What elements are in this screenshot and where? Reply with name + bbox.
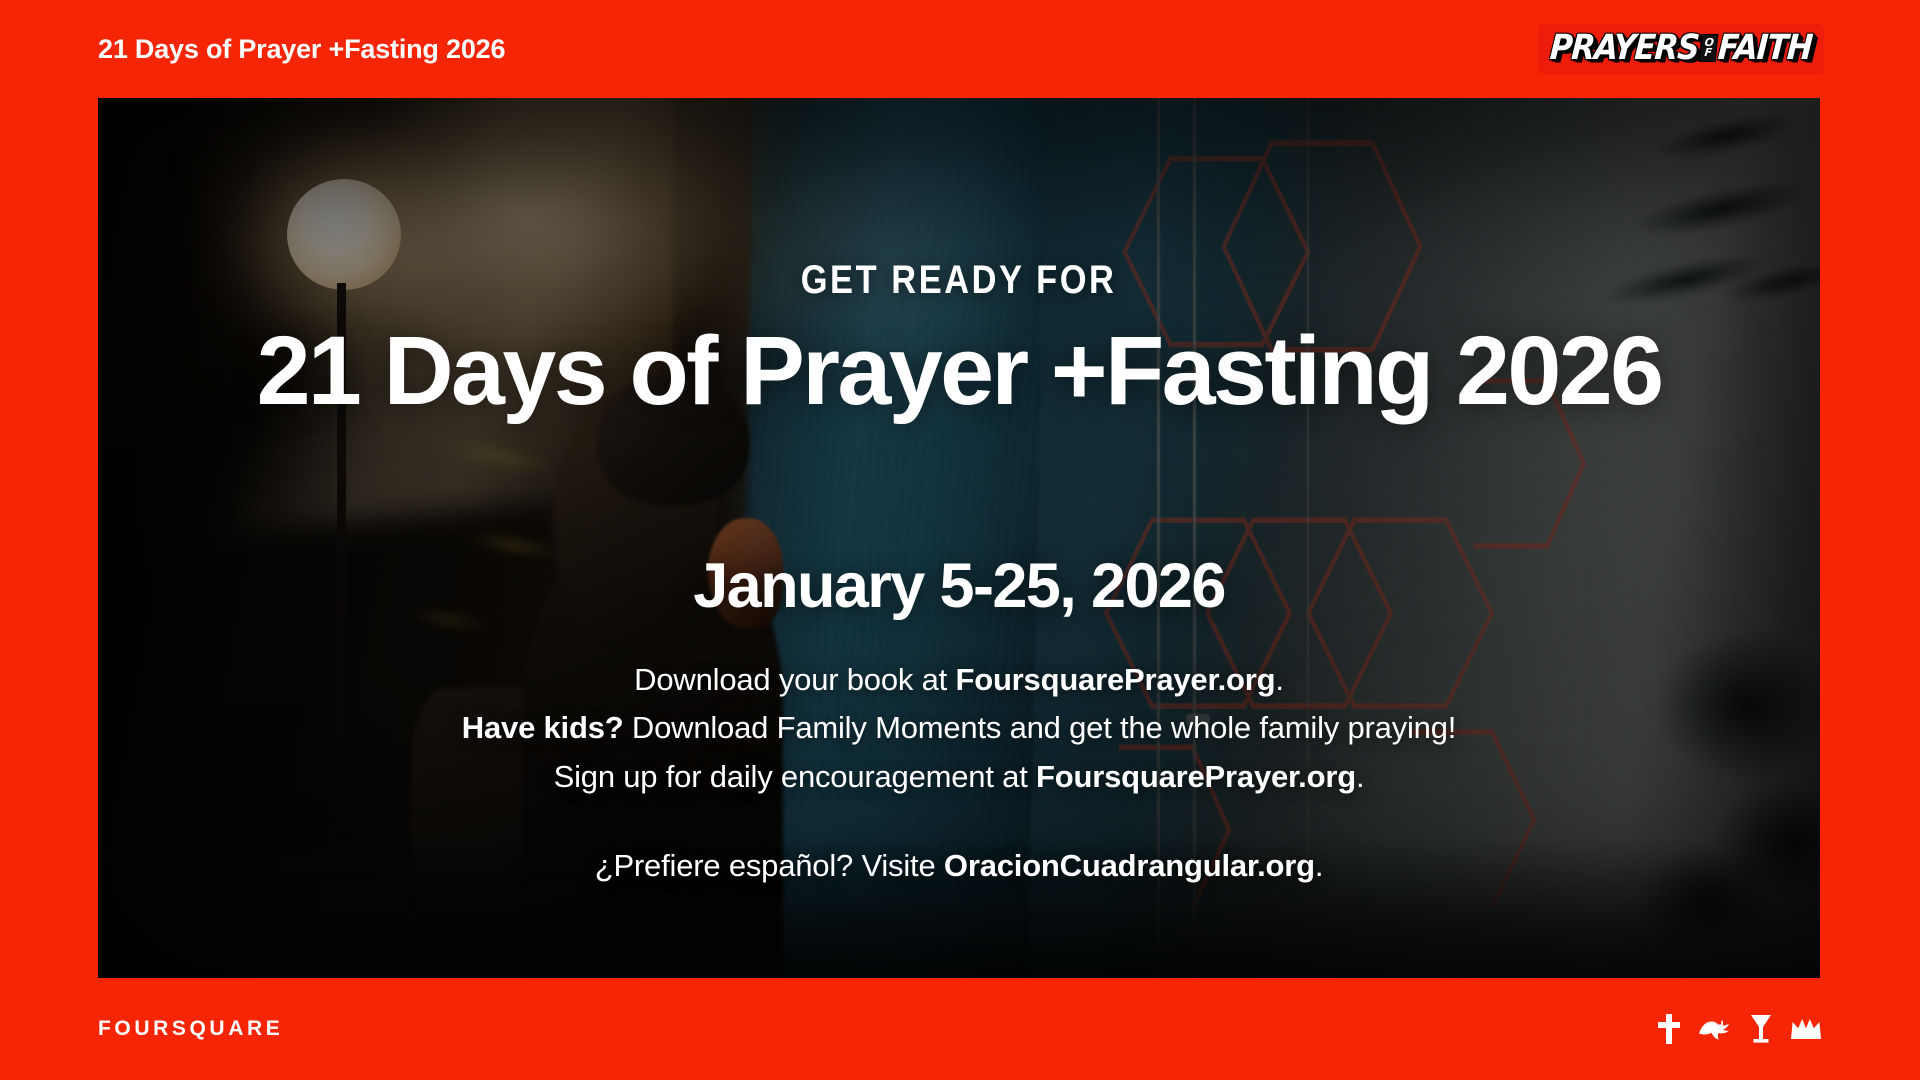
hero-spanish-line: ¿Prefiere español? Visite OracionCuadran… [595,848,1324,884]
body-line-1: Download your book at FoursquarePrayer.o… [462,656,1456,704]
body-line-3-link[interactable]: FoursquarePrayer.org [1036,759,1356,794]
page-title: 21 Days of Prayer +Fasting 2026 [98,34,505,65]
hero-panel: GET READY FOR 21 Days of Prayer +Fasting… [98,98,1820,978]
body-line-2-text: Download Family Moments and get the whol… [624,710,1457,745]
foursquare-wordmark: FOURSQUARE [98,1017,283,1041]
cross-icon [1658,1014,1680,1044]
crown-icon [1790,1018,1822,1040]
body-line-2: Have kids? Download Family Moments and g… [462,704,1456,752]
spanish-line-link[interactable]: OracionCuadrangular.org [944,848,1315,883]
body-line-3-tail: . [1356,759,1364,794]
chalice-icon [1750,1014,1772,1044]
hero-headline: 21 Days of Prayer +Fasting 2026 [257,322,1662,421]
footer-bar: FOURSQUARE [0,978,1920,1080]
spanish-line-tail: . [1315,848,1323,883]
spanish-line-text: ¿Prefiere español? Visite [595,848,944,883]
body-line-1-tail: . [1275,662,1283,697]
hero-dateline: January 5-25, 2026 [693,555,1225,618]
logo-word-of: O F [1698,34,1718,62]
logo-word-faith: FAITH [1717,31,1813,66]
body-line-1-text: Download your book at [634,662,955,697]
hero-eyebrow: GET READY FOR [801,260,1117,300]
hero-content: GET READY FOR 21 Days of Prayer +Fasting… [98,98,1820,978]
hero-body-copy: Download your book at FoursquarePrayer.o… [462,656,1456,801]
body-line-3-text: Sign up for daily encouragement at [554,759,1036,794]
body-line-2-lead: Have kids? [462,710,624,745]
prayers-of-faith-logo[interactable]: PRAYERS O F FAITH [1540,26,1822,72]
logo-word-prayers: PRAYERS [1549,31,1700,66]
top-bar: 21 Days of Prayer +Fasting 2026 PRAYERS … [0,0,1920,98]
logo-of-letter-f: F [1704,48,1713,58]
body-line-3: Sign up for daily encouragement at Fours… [462,753,1456,801]
body-line-1-link[interactable]: FoursquarePrayer.org [955,662,1275,697]
foursquare-symbols [1658,1014,1822,1044]
dove-icon [1698,1015,1732,1043]
